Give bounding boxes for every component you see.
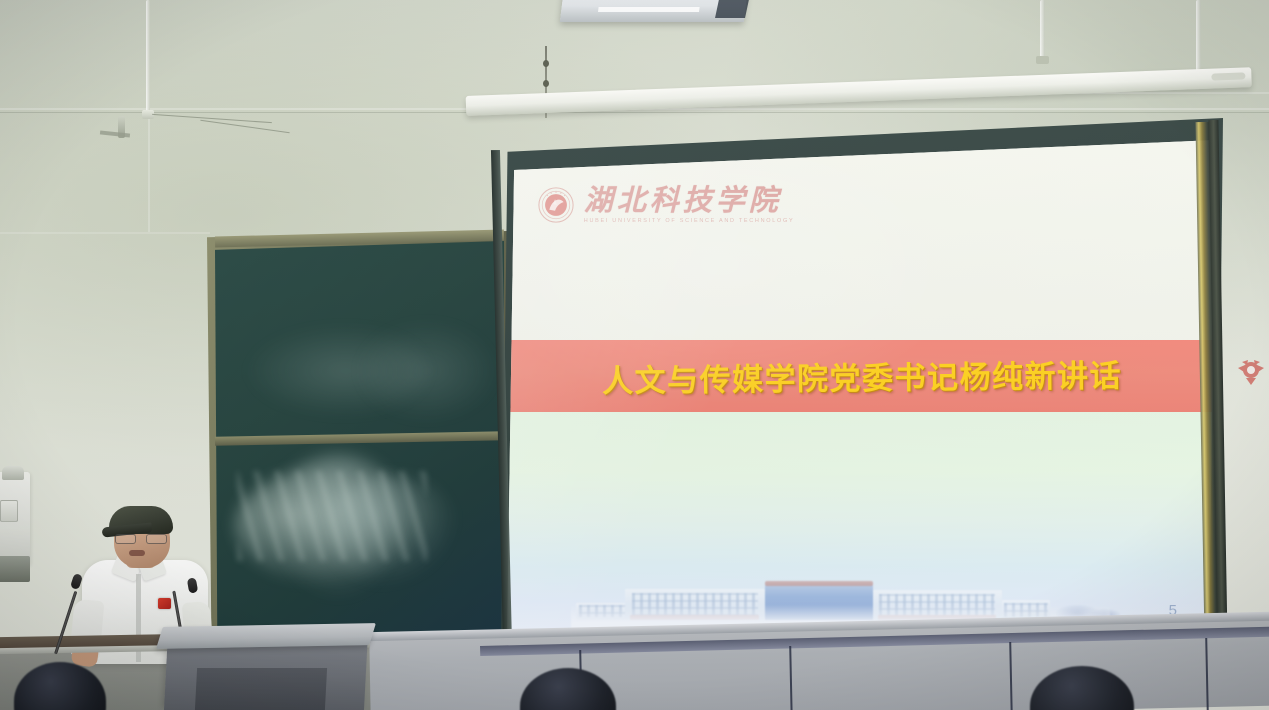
university-logo-text: 湖北科技学院 HUBEI UNIVERSITY OF SCIENCE AND T…	[584, 186, 795, 225]
cord-bead-1	[543, 60, 549, 67]
cord-bead-2	[543, 80, 549, 87]
slide-header-panel: 湖北科技学院 HUBEI UNIVERSITY OF SCIENCE AND T…	[507, 140, 1216, 340]
lectern-top-surface	[156, 623, 376, 649]
slide-body-panel: 5	[507, 412, 1216, 639]
chalk-streaks	[237, 471, 427, 561]
university-name-en: HUBEI UNIVERSITY OF SCIENCE AND TECHNOLO…	[584, 219, 795, 225]
university-name-cn: 湖北科技学院	[584, 186, 795, 215]
wall-cabinet-base	[0, 556, 30, 582]
wall-seam-shadow	[0, 112, 1269, 113]
projection-screen-surface[interactable]: 湖北科技学院 HUBEI UNIVERSITY OF SCIENCE AND T…	[507, 140, 1216, 639]
wall-cabinet-top	[2, 466, 24, 480]
university-logo: 湖北科技学院 HUBEI UNIVERSITY OF SCIENCE AND T…	[537, 186, 795, 225]
presenter-mouth	[129, 550, 145, 556]
screen-roller-cap	[1211, 72, 1245, 80]
right-wall-pipe	[1040, 0, 1045, 62]
red-party-pin	[158, 598, 171, 609]
wall-seam-vertical	[148, 112, 150, 232]
wall-conduit-pipe	[146, 0, 150, 116]
red-paper-cutting-icon	[1236, 358, 1266, 392]
slide-title-banner: 人文与传媒学院党委书记杨纯新讲话	[507, 340, 1216, 412]
wall-outlet	[0, 500, 18, 522]
university-crest-icon	[537, 186, 575, 224]
green-chalkboard	[207, 231, 507, 649]
wall-seam-left	[0, 232, 210, 234]
eyeglasses-icon	[114, 534, 168, 542]
lectern-shelf	[195, 668, 327, 710]
lecture-hall-photo: 湖北科技学院 HUBEI UNIVERSITY OF SCIENCE AND T…	[0, 0, 1269, 710]
slide-title-text: 人文与传媒学院党委书记杨纯新讲话	[601, 351, 1121, 401]
presentation-slide: 湖北科技学院 HUBEI UNIVERSITY OF SCIENCE AND T…	[507, 140, 1216, 639]
right-wall-pipe-clip	[1036, 56, 1049, 64]
ceiling-unit-shadow	[715, 0, 751, 18]
